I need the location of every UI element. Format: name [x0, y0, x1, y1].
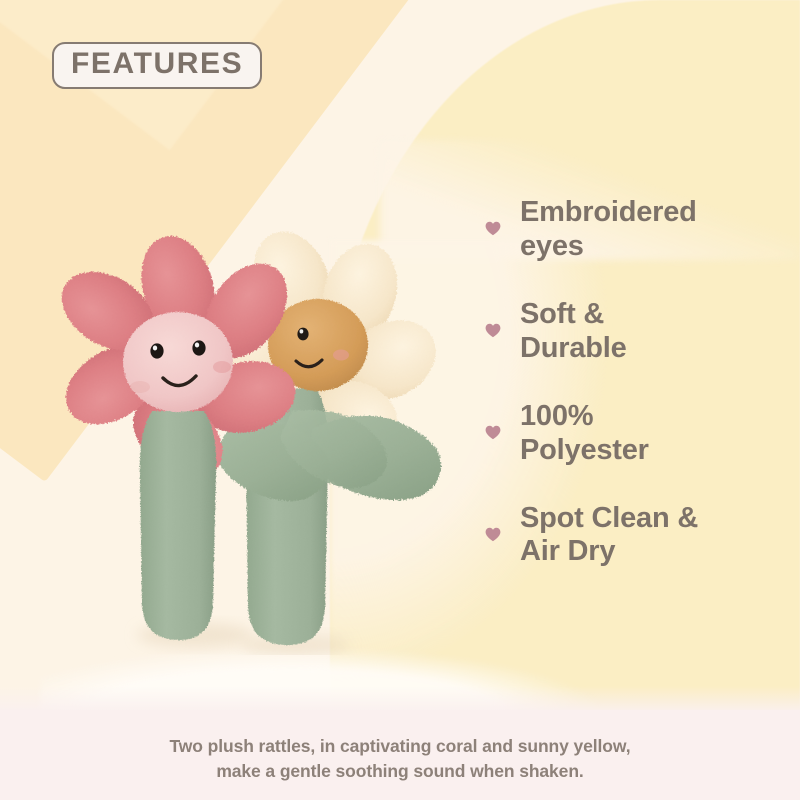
feature-item: Spot Clean & Air Dry	[485, 502, 785, 570]
coral-flower-handle	[140, 411, 217, 640]
features-badge: FEATURES	[52, 42, 262, 89]
feature-label: 100% Polyester	[520, 400, 649, 468]
feature-item: 100% Polyester	[485, 400, 785, 468]
heart-icon	[485, 425, 501, 440]
background-caption-fade	[0, 686, 800, 712]
feature-item: Embroidered eyes	[485, 196, 785, 264]
infographic-canvas: FEATURES	[0, 0, 800, 800]
product-illustration	[60, 215, 480, 655]
heart-icon	[485, 323, 501, 338]
feature-label: Embroidered eyes	[520, 196, 697, 264]
feature-list: Embroidered eyes Soft & Durable 100% Pol…	[485, 196, 785, 603]
product-caption: Two plush rattles, in captivating coral …	[0, 734, 800, 784]
feature-item: Soft & Durable	[485, 298, 785, 366]
coral-flower-face	[123, 312, 233, 412]
feature-label: Spot Clean & Air Dry	[520, 502, 698, 570]
feature-label: Soft & Durable	[520, 298, 627, 366]
heart-icon	[485, 527, 501, 542]
heart-icon	[485, 221, 501, 236]
